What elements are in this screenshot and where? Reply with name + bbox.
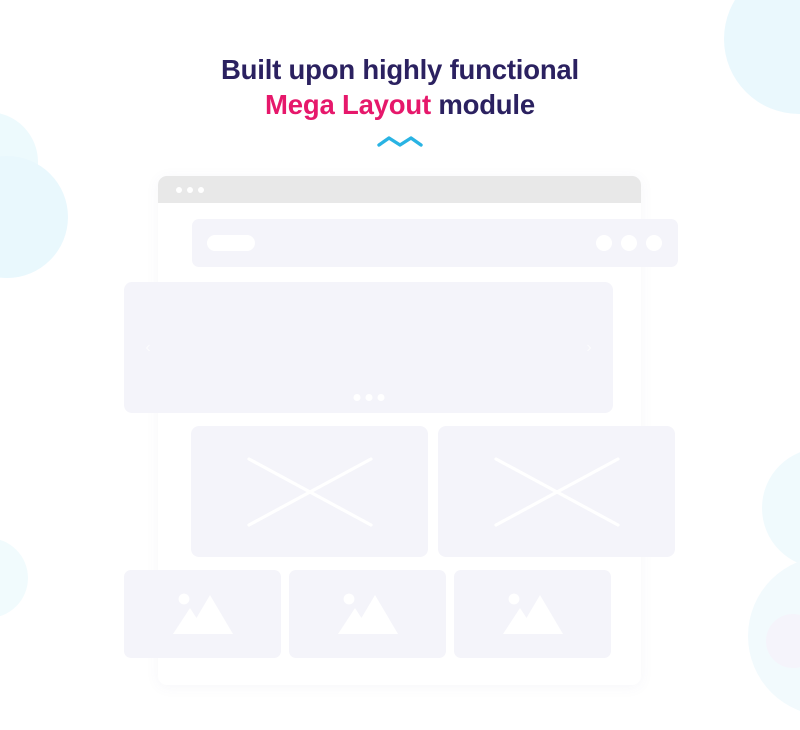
carousel-next-icon[interactable]: › xyxy=(581,337,597,359)
nav-action-icon-2[interactable] xyxy=(621,235,637,251)
window-dot-maximize-icon[interactable] xyxy=(198,187,204,193)
decor-blob-right-mid xyxy=(762,448,800,568)
thumbnail-card-row xyxy=(124,570,611,658)
decor-blob-top-right-small xyxy=(778,0,800,4)
headline-line-2-rest: module xyxy=(431,89,535,120)
decor-blob-right-lower xyxy=(748,556,800,716)
carousel-dot-1[interactable] xyxy=(353,394,360,401)
carousel-dot-2[interactable] xyxy=(365,394,372,401)
window-control-dots xyxy=(176,187,204,193)
wide-media-placeholder-1[interactable] xyxy=(191,426,428,557)
window-dot-minimize-icon[interactable] xyxy=(187,187,193,193)
wide-media-row xyxy=(191,426,678,557)
hero-carousel-placeholder: ‹ › xyxy=(124,282,613,413)
carousel-dot-3[interactable] xyxy=(377,394,384,401)
logo-placeholder[interactable] xyxy=(207,235,255,251)
carousel-prev-icon[interactable]: ‹ xyxy=(140,337,156,359)
headline-block: Built upon highly functional Mega Layout… xyxy=(0,52,800,150)
window-dot-close-icon[interactable] xyxy=(176,187,182,193)
mountain-image-icon xyxy=(502,590,564,638)
mountain-image-icon xyxy=(172,590,234,638)
wide-media-placeholder-2[interactable] xyxy=(438,426,675,557)
decor-blob-left-lower xyxy=(0,538,28,618)
nav-action-icon-3[interactable] xyxy=(646,235,662,251)
image-cross-placeholder-icon xyxy=(246,456,374,528)
site-navbar-placeholder xyxy=(192,219,678,267)
zigzag-wave-divider-icon xyxy=(377,136,423,150)
headline-accent-text: Mega Layout xyxy=(265,89,431,120)
carousel-pagination-dots xyxy=(353,394,384,401)
thumbnail-card-3[interactable] xyxy=(454,570,611,658)
browser-titlebar xyxy=(158,176,641,203)
thumbnail-card-2[interactable] xyxy=(289,570,446,658)
navbar-actions xyxy=(596,235,662,251)
image-cross-placeholder-icon xyxy=(493,456,621,528)
decor-blob-left-mid xyxy=(0,156,68,278)
mountain-image-icon xyxy=(337,590,399,638)
decor-blob-lavender-corner xyxy=(766,614,800,668)
nav-action-icon-1[interactable] xyxy=(596,235,612,251)
thumbnail-card-1[interactable] xyxy=(124,570,281,658)
headline-line-1: Built upon highly functional xyxy=(221,54,579,85)
page-title: Built upon highly functional Mega Layout… xyxy=(0,52,800,122)
